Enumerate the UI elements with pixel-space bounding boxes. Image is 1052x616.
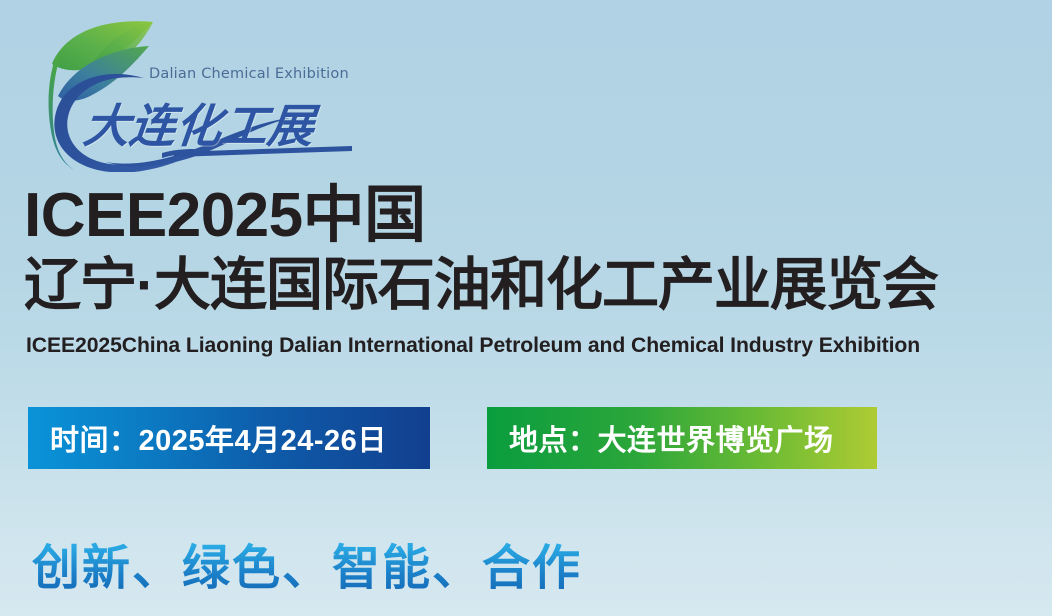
page-title-line2: 辽宁·大连国际石油和化工产业展览会 [24, 257, 938, 314]
logo-latin-text: Dalian Chemical Exhibition [149, 66, 349, 82]
page-title-line1: ICEE2025中国 [24, 185, 426, 247]
venue-badge: 地点：大连世界博览广场 [487, 407, 877, 469]
slogan-text: 创新、绿色、智能、合作 [32, 528, 582, 598]
venue-badge-text: 地点：大连世界博览广场 [509, 417, 834, 459]
date-badge-text: 时间：2025年4月24-26日 [50, 417, 387, 459]
event-logo[interactable]: Dalian Chemical Exhibition 大连化工展 [22, 12, 352, 172]
exhibition-poster: Dalian Chemical Exhibition 大连化工展 ICEE202… [0, 0, 1052, 616]
logo-chinese-text: 大连化工展 [81, 90, 318, 156]
date-badge: 时间：2025年4月24-26日 [28, 407, 430, 469]
page-title-english: ICEE2025China Liaoning Dalian Internatio… [26, 333, 920, 358]
